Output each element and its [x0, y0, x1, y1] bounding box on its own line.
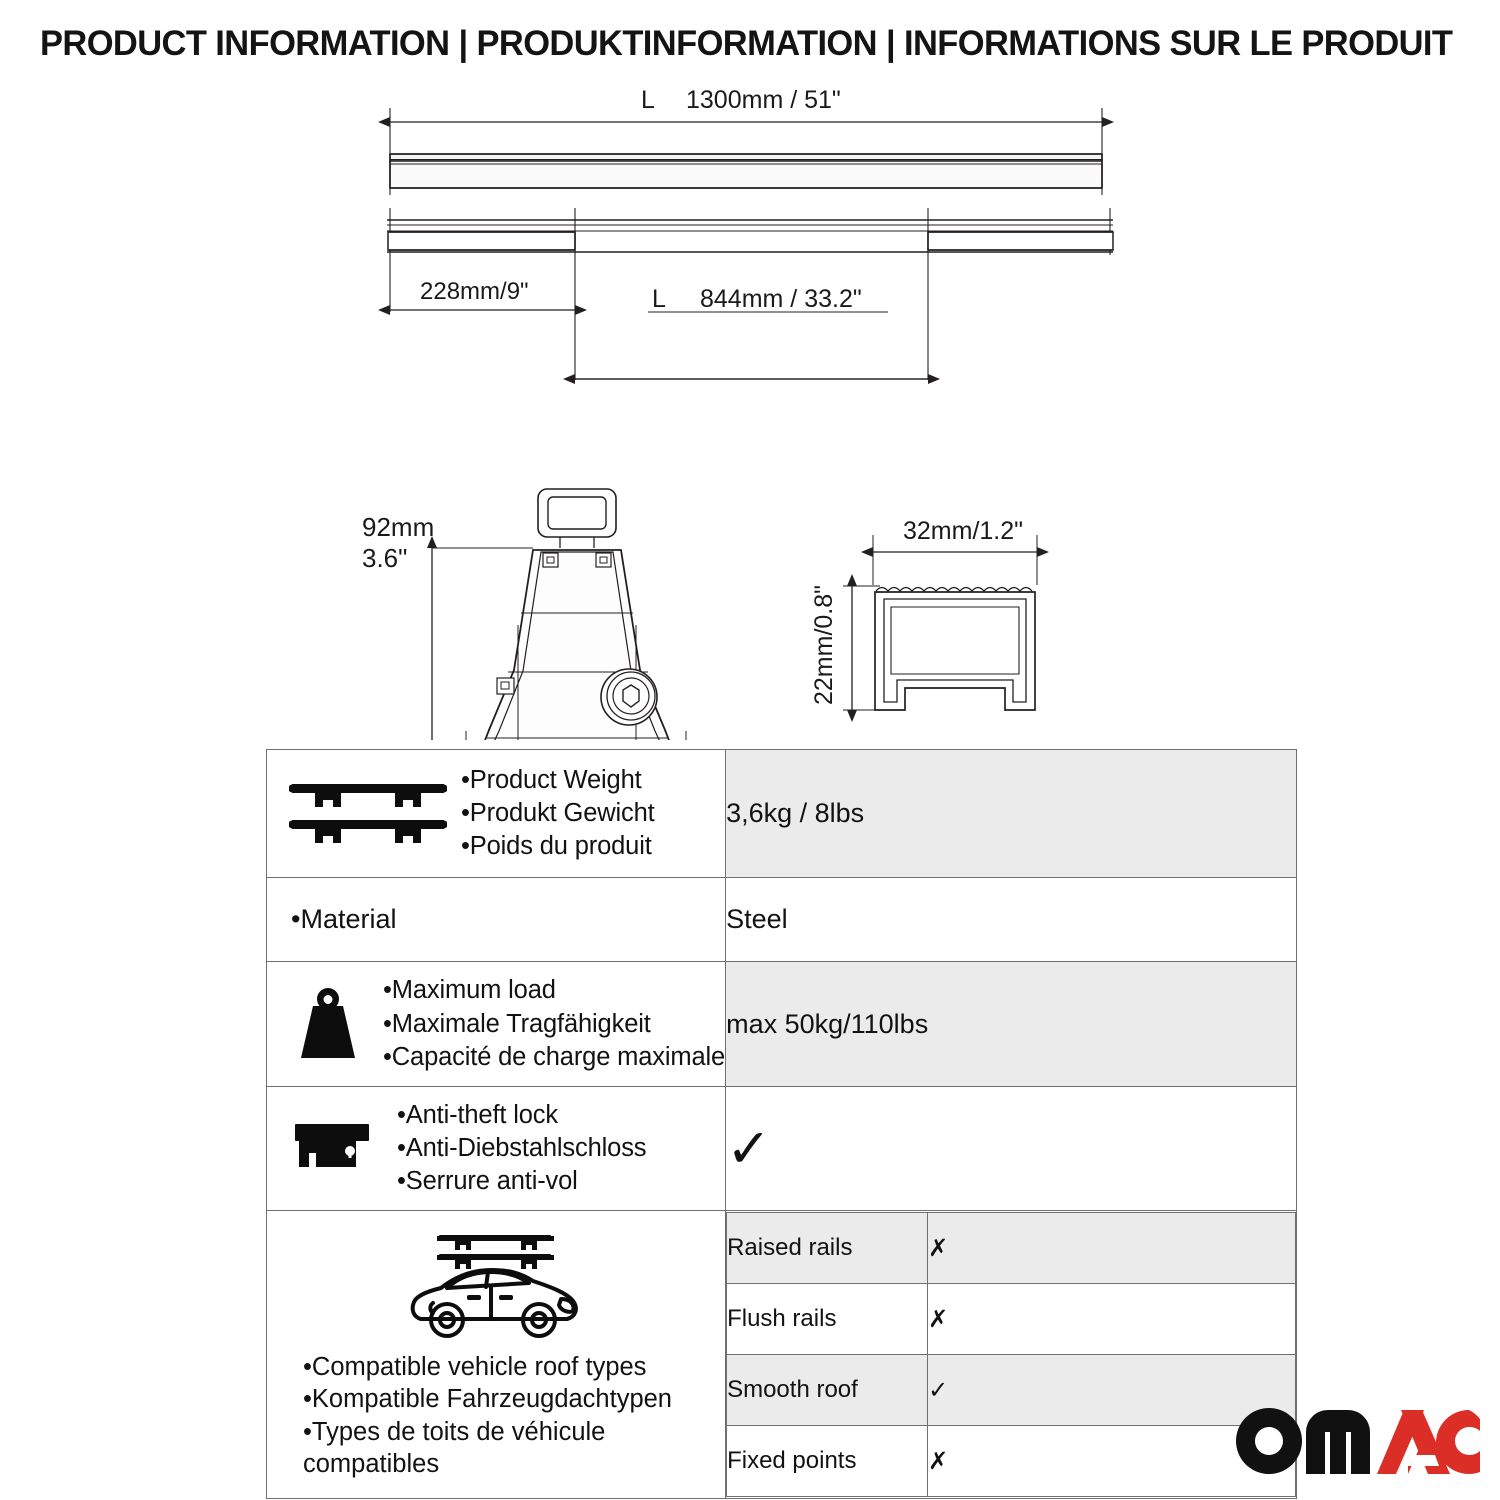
table-row: •Anti-theft lock •Anti-Diebstahlschloss … — [267, 1086, 1297, 1210]
weight-label-fr: •Poids du produit — [461, 830, 655, 863]
max-load-labels: •Maximum load •Maximale Tragfähigkeit •C… — [383, 974, 725, 1073]
span-label: L — [652, 285, 666, 313]
crossbars-icon — [289, 778, 447, 850]
roof-type-row-flush: Flush rails ✗ — [727, 1284, 1296, 1355]
weight-icon — [289, 986, 367, 1062]
profile-width-value: 32mm/1.2" — [903, 517, 1023, 545]
anti-theft-label-en: •Anti-theft lock — [397, 1099, 646, 1132]
anti-theft-labels: •Anti-theft lock •Anti-Diebstahlschloss … — [397, 1099, 646, 1198]
roof-type-row-raised: Raised rails ✗ — [727, 1213, 1296, 1284]
tower-height-value-line1: 92mm — [362, 512, 434, 542]
bar-length-value: 1300mm / 51" — [686, 86, 841, 114]
technical-drawing: L 1300mm / 51" 228mm/9" L 844mm / 33.2" … — [0, 80, 1500, 740]
anti-theft-label-fr: •Serrure anti-vol — [397, 1165, 646, 1198]
max-load-value: max 50kg/110lbs — [726, 962, 1297, 1086]
roof-type-name-fixed: Fixed points — [727, 1426, 928, 1497]
max-load-label-de: •Maximale Tragfähigkeit — [383, 1008, 725, 1041]
page-title: PRODUCT INFORMATION | PRODUKTINFORMATION… — [40, 24, 1449, 64]
anti-theft-label-cell: •Anti-theft lock •Anti-Diebstahlschloss … — [267, 1086, 726, 1210]
compatibility-label-de: •Kompatible Fahrzeugdachtypen — [303, 1383, 725, 1415]
foot-offset-value: 228mm/9" — [420, 278, 529, 305]
roof-type-name-flush: Flush rails — [727, 1284, 928, 1355]
tower-height-value-line2: 3.6" — [362, 543, 407, 573]
anti-theft-label-de: •Anti-Diebstahlschloss — [397, 1132, 646, 1165]
table-row: •Maximum load •Maximale Tragfähigkeit •C… — [267, 962, 1297, 1086]
table-row: •Compatible vehicle roof types •Kompatib… — [267, 1211, 1297, 1499]
roof-type-mark-flush: ✗ — [928, 1284, 1296, 1355]
roof-type-row-fixed: Fixed points ✗ — [727, 1426, 1296, 1497]
compatibility-label-fr: •Types de toits de véhicule — [303, 1416, 725, 1448]
anti-theft-value: ✓ — [726, 1086, 1297, 1210]
weight-labels: •Product Weight •Produkt Gewicht •Poids … — [461, 764, 655, 863]
max-load-label-cell: •Maximum load •Maximale Tragfähigkeit •C… — [267, 962, 726, 1086]
roof-type-name-smooth: Smooth roof — [727, 1355, 928, 1426]
max-load-label-en: •Maximum load — [383, 974, 725, 1007]
compatibility-label-cell: •Compatible vehicle roof types •Kompatib… — [267, 1211, 726, 1499]
table-row: •Product Weight •Produkt Gewicht •Poids … — [267, 750, 1297, 878]
roof-type-name-raised: Raised rails — [727, 1213, 928, 1284]
compatibility-label-en: •Compatible vehicle roof types — [303, 1351, 725, 1383]
table-row: •Material Steel — [267, 878, 1297, 962]
material-value: Steel — [726, 878, 1297, 962]
weight-label-en: •Product Weight — [461, 764, 655, 797]
roof-types-cell: Raised rails ✗ Flush rails ✗ Smooth roof… — [726, 1211, 1297, 1499]
omac-logo — [1236, 1408, 1480, 1474]
weight-value: 3,6kg / 8lbs — [726, 750, 1297, 878]
roof-type-mark-raised: ✗ — [928, 1213, 1296, 1284]
material-label: •Material — [267, 878, 725, 961]
product-spec-table: •Product Weight •Produkt Gewicht •Poids … — [266, 749, 1297, 1499]
profile-height-value: 22mm/0.8" — [810, 585, 838, 705]
bar-length-label: L — [641, 86, 655, 114]
car-with-crossbars-icon — [267, 1225, 725, 1341]
span-value: 844mm / 33.2" — [700, 285, 862, 313]
roof-types-table: Raised rails ✗ Flush rails ✗ Smooth roof… — [726, 1212, 1296, 1497]
material-label-cell: •Material — [267, 878, 726, 962]
max-load-label-fr: •Capacité de charge maximale — [383, 1041, 725, 1074]
lock-icon — [289, 1118, 375, 1180]
compatibility-labels: •Compatible vehicle roof types •Kompatib… — [267, 1351, 725, 1480]
weight-label-de: •Produkt Gewicht — [461, 797, 655, 830]
roof-type-row-smooth: Smooth roof ✓ — [727, 1355, 1296, 1426]
weight-label-cell: •Product Weight •Produkt Gewicht •Poids … — [267, 750, 726, 878]
compatibility-label-fr-cont: compatibles — [303, 1448, 725, 1480]
